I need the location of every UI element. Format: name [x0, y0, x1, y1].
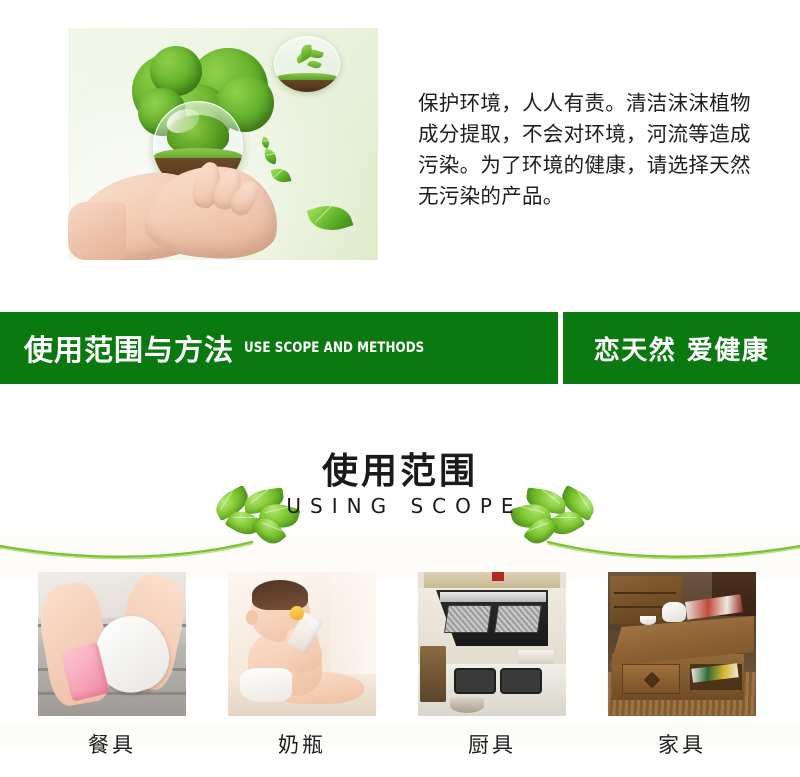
scope-card-kitchenware[interactable]: 厨具	[418, 572, 566, 759]
banner-right-panel: 恋天然 爱健康	[563, 312, 800, 384]
small-glass-sphere-sprout	[274, 36, 340, 92]
banner-slogan: 恋天然 爱健康	[594, 330, 770, 367]
intro-paragraph: 保护环境，人人有责。清洁沫沫植物成分提取，不会对环境，河流等造成污染。为了环境的…	[418, 88, 758, 212]
scope-card-label: 奶瓶	[228, 729, 376, 759]
eco-hands-photo	[68, 28, 378, 260]
scope-card-tableware[interactable]: 餐具	[38, 572, 186, 759]
scope-heading-en: USING SCOPE	[0, 494, 800, 518]
scope-heading-cn: 使用范围	[0, 442, 800, 494]
scope-card-grid: 餐具 奶瓶	[0, 572, 800, 772]
banner-left-panel: 使用范围与方法 USE SCOPE AND METHODS	[0, 312, 558, 384]
wooden-coffee-table-photo	[608, 572, 756, 716]
baby-bottle-photo	[228, 572, 376, 716]
scope-card-baby-bottle[interactable]: 奶瓶	[228, 572, 376, 759]
scope-heading-block: 使用范围 USING SCOPE	[0, 432, 800, 552]
banner-title-cn: 使用范围与方法	[24, 327, 234, 369]
scope-card-furniture[interactable]: 家具	[608, 572, 756, 759]
intro-section: 保护环境，人人有责。清洁沫沫植物成分提取，不会对环境，河流等造成污染。为了环境的…	[0, 0, 800, 308]
scope-card-label: 餐具	[38, 729, 186, 759]
dish-washing-photo	[38, 572, 186, 716]
scope-card-label: 厨具	[418, 729, 566, 759]
banner-title-en: USE SCOPE AND METHODS	[244, 340, 424, 356]
sprout-icon	[298, 45, 320, 75]
scope-card-label: 家具	[608, 729, 756, 759]
cupped-hands	[68, 158, 298, 260]
section-banner: 使用范围与方法 USE SCOPE AND METHODS 恋天然 爱健康	[0, 312, 800, 384]
using-scope-section: 使用范围 USING SCOPE 餐具	[0, 384, 800, 777]
kitchen-range-hood-photo	[418, 572, 566, 716]
